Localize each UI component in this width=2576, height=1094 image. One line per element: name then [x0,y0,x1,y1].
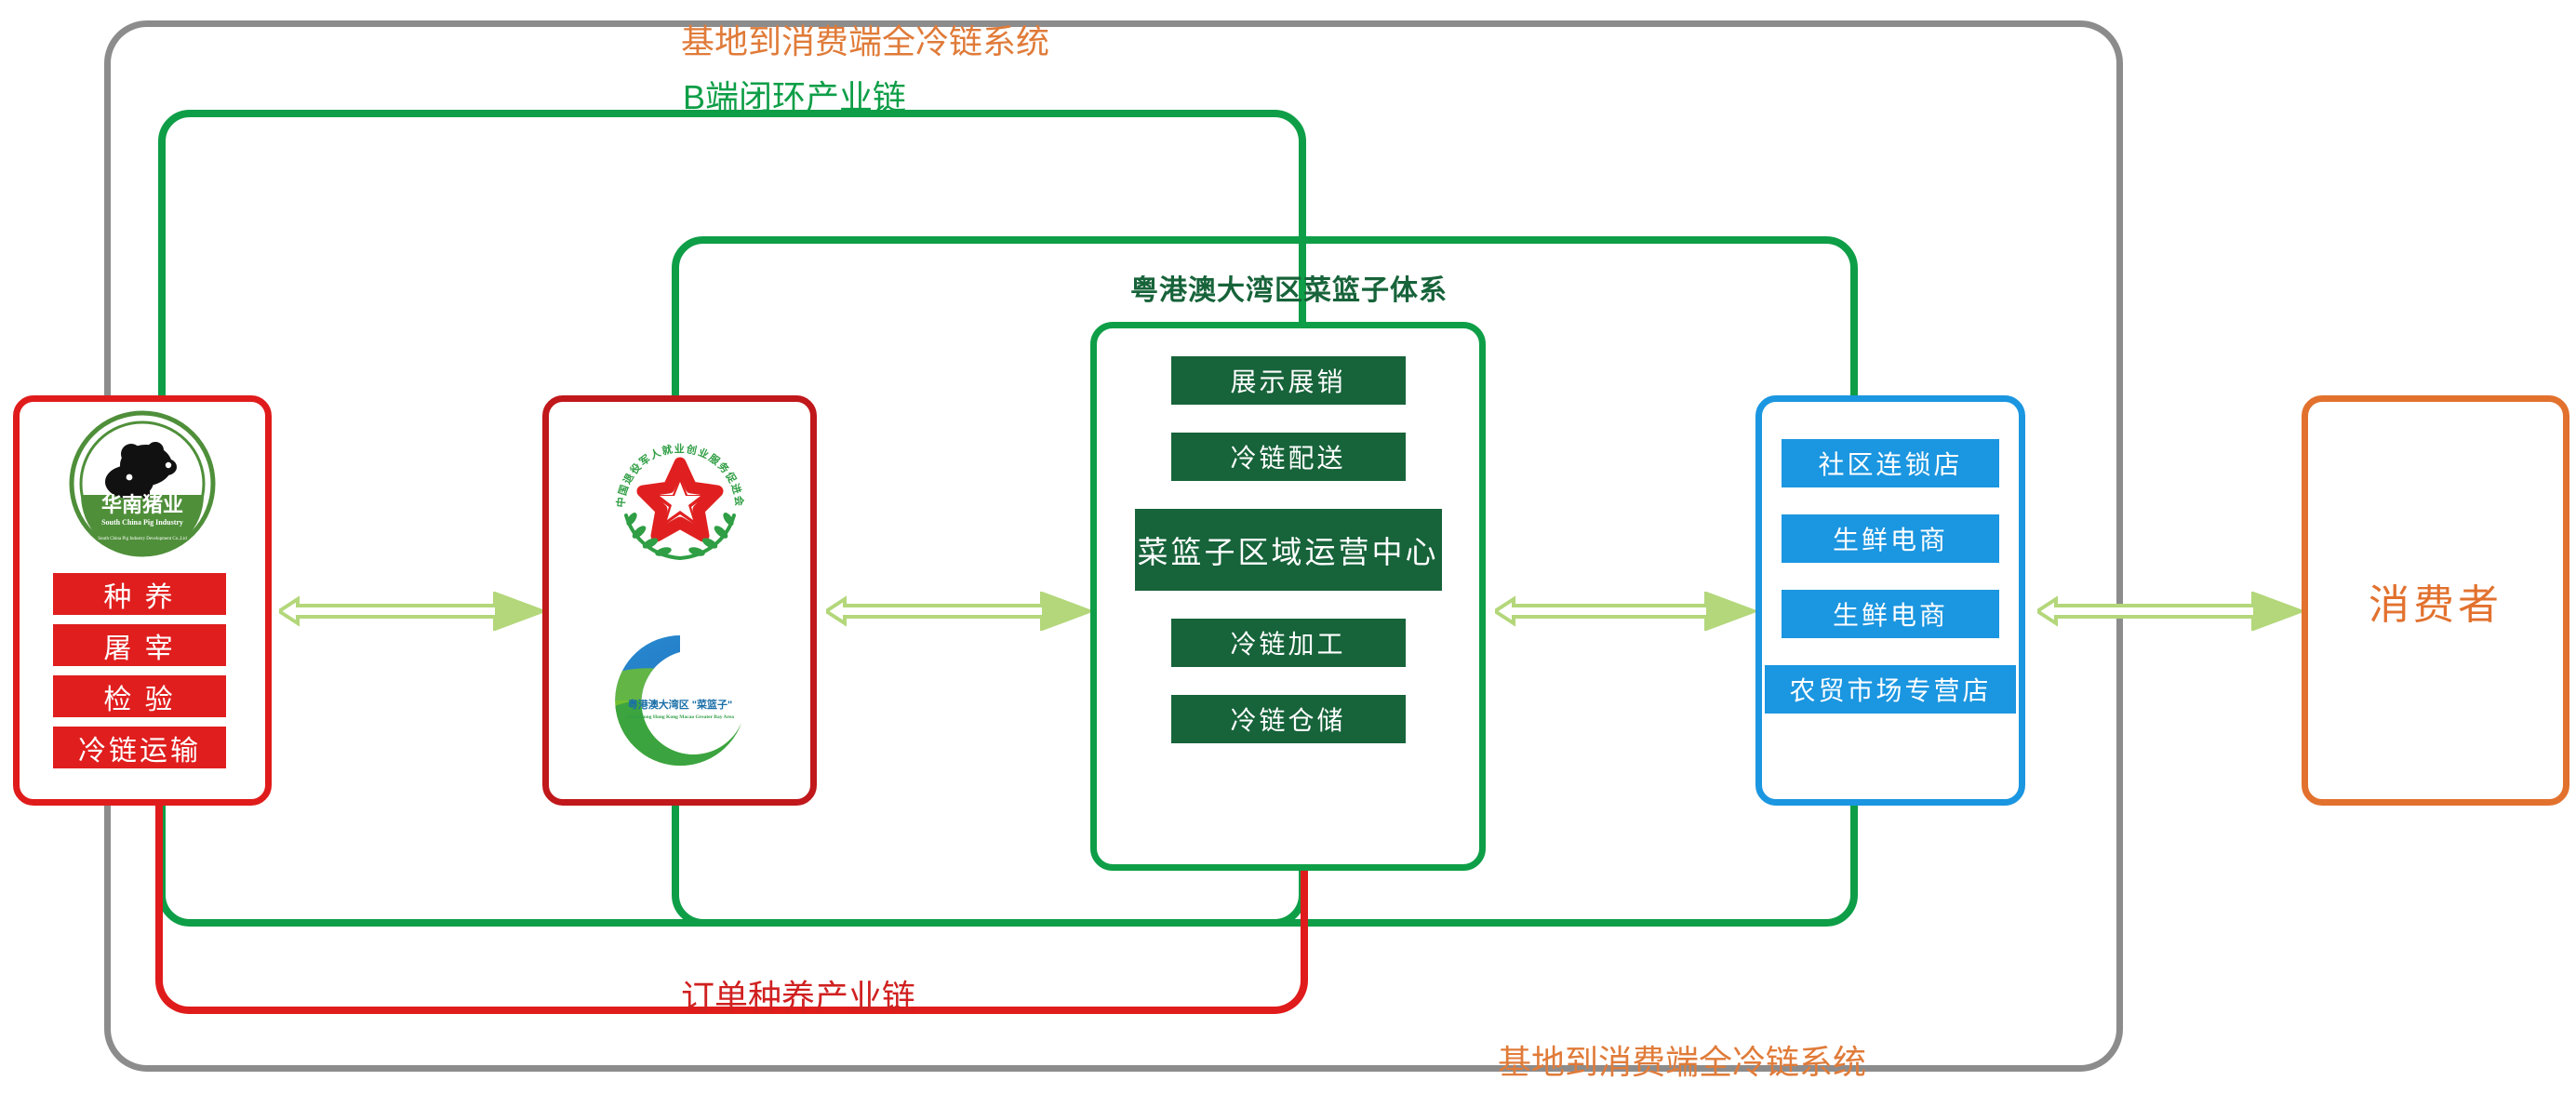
chip-cold-chain-transport[interactable]: 冷链运输 [53,727,226,768]
node-certifications[interactable]: 中国退役军人就业创业服务促进会 [542,395,817,806]
arrow-basket-to-retail [1495,592,1755,631]
basket-service-chip-list: 展示展销 冷链配送 菜篮子区域运营中心 冷链加工 冷链仓储 [1097,356,1479,743]
arrow-certs-to-basket [826,592,1091,631]
chip-community-chain-store[interactable]: 社区连锁店 [1782,439,1999,487]
retail-channel-chip-list: 社区连锁店 生鲜电商 生鲜电商 农贸市场专营店 [1762,439,2019,714]
caption-full-cold-chain-top: 基地到消费端全冷链系统 [681,15,1049,63]
veterans-employment-association-emblem-icon: 中国退役军人就业创业服务促进会 [602,422,758,579]
chip-inspection[interactable]: 检 验 [53,675,226,717]
basket-system-title: 粤港澳大湾区菜篮子体系 [1130,267,1448,308]
greater-bay-area-vegetable-basket-logo-icon: 粤港澳大湾区 "菜篮子" Guangdong Hong Kong Macao G… [602,622,758,779]
pig-logo-container: 华南猪业 South China Pig Industry South Chin… [20,409,265,558]
arrow-retail-to-consumer [2037,592,2302,631]
chip-cold-chain-processing[interactable]: 冷链加工 [1171,619,1406,667]
svg-text:粤港澳大湾区 "菜篮子": 粤港澳大湾区 "菜篮子" [627,698,732,711]
svg-text:华南猪业: 华南猪业 [101,493,183,516]
chip-breeding[interactable]: 种 养 [53,573,226,615]
veterans-emblem-container: 中国退役军人就业创业服务促进会 [549,422,810,579]
chip-slaughtering[interactable]: 屠 宰 [53,624,226,666]
chip-basket-regional-operation-center[interactable]: 菜篮子区域运营中心 [1135,509,1442,591]
node-consumer[interactable]: 消费者 [2302,395,2569,806]
caption-full-cold-chain-bottom: 基地到消费端全冷链系统 [1498,1035,1866,1084]
caption-order-farming-chain: 订单种养产业链 [681,970,915,1019]
chip-exhibition-sales[interactable]: 展示展销 [1171,356,1406,405]
svg-text:South China Pig Industry: South China Pig Industry [101,518,183,527]
chip-fresh-ecommerce-1[interactable]: 生鲜电商 [1782,514,1999,563]
node-source-production[interactable]: 华南猪业 South China Pig Industry South Chin… [13,395,272,806]
chip-fresh-ecommerce-2[interactable]: 生鲜电商 [1782,590,1999,638]
chip-cold-chain-storage[interactable]: 冷链仓储 [1171,695,1406,743]
diagram-canvas: 基地到消费端全冷链系统 B端闭环产业链 订单种养产业链 基地到消费端全冷链系统 [0,0,2576,1094]
chip-cold-chain-distribution[interactable]: 冷链配送 [1171,433,1406,481]
arrow-source-to-certs [279,592,544,631]
svg-text:Guangdong Hong Kong Macao Grea: Guangdong Hong Kong Macao Greater Bay Ar… [625,714,733,720]
node-vegetable-basket-services[interactable]: 展示展销 冷链配送 菜篮子区域运营中心 冷链加工 冷链仓储 [1090,322,1486,871]
caption-b-closed-loop-chain: B端闭环产业链 [683,71,906,119]
svg-text:South China Pig Industry Devel: South China Pig Industry Development Co.… [98,537,187,541]
node-retail-channels[interactable]: 社区连锁店 生鲜电商 生鲜电商 农贸市场专营店 [1755,395,2025,806]
chip-farmers-market-store[interactable]: 农贸市场专营店 [1765,665,2016,714]
south-china-pig-industry-logo-icon: 华南猪业 South China Pig Industry South Chin… [68,409,217,558]
greater-bay-area-logo-container: 粤港澳大湾区 "菜篮子" Guangdong Hong Kong Macao G… [549,622,810,779]
source-process-chip-list: 种 养 屠 宰 检 验 冷链运输 [53,573,226,768]
consumer-label: 消费者 [2369,571,2503,631]
